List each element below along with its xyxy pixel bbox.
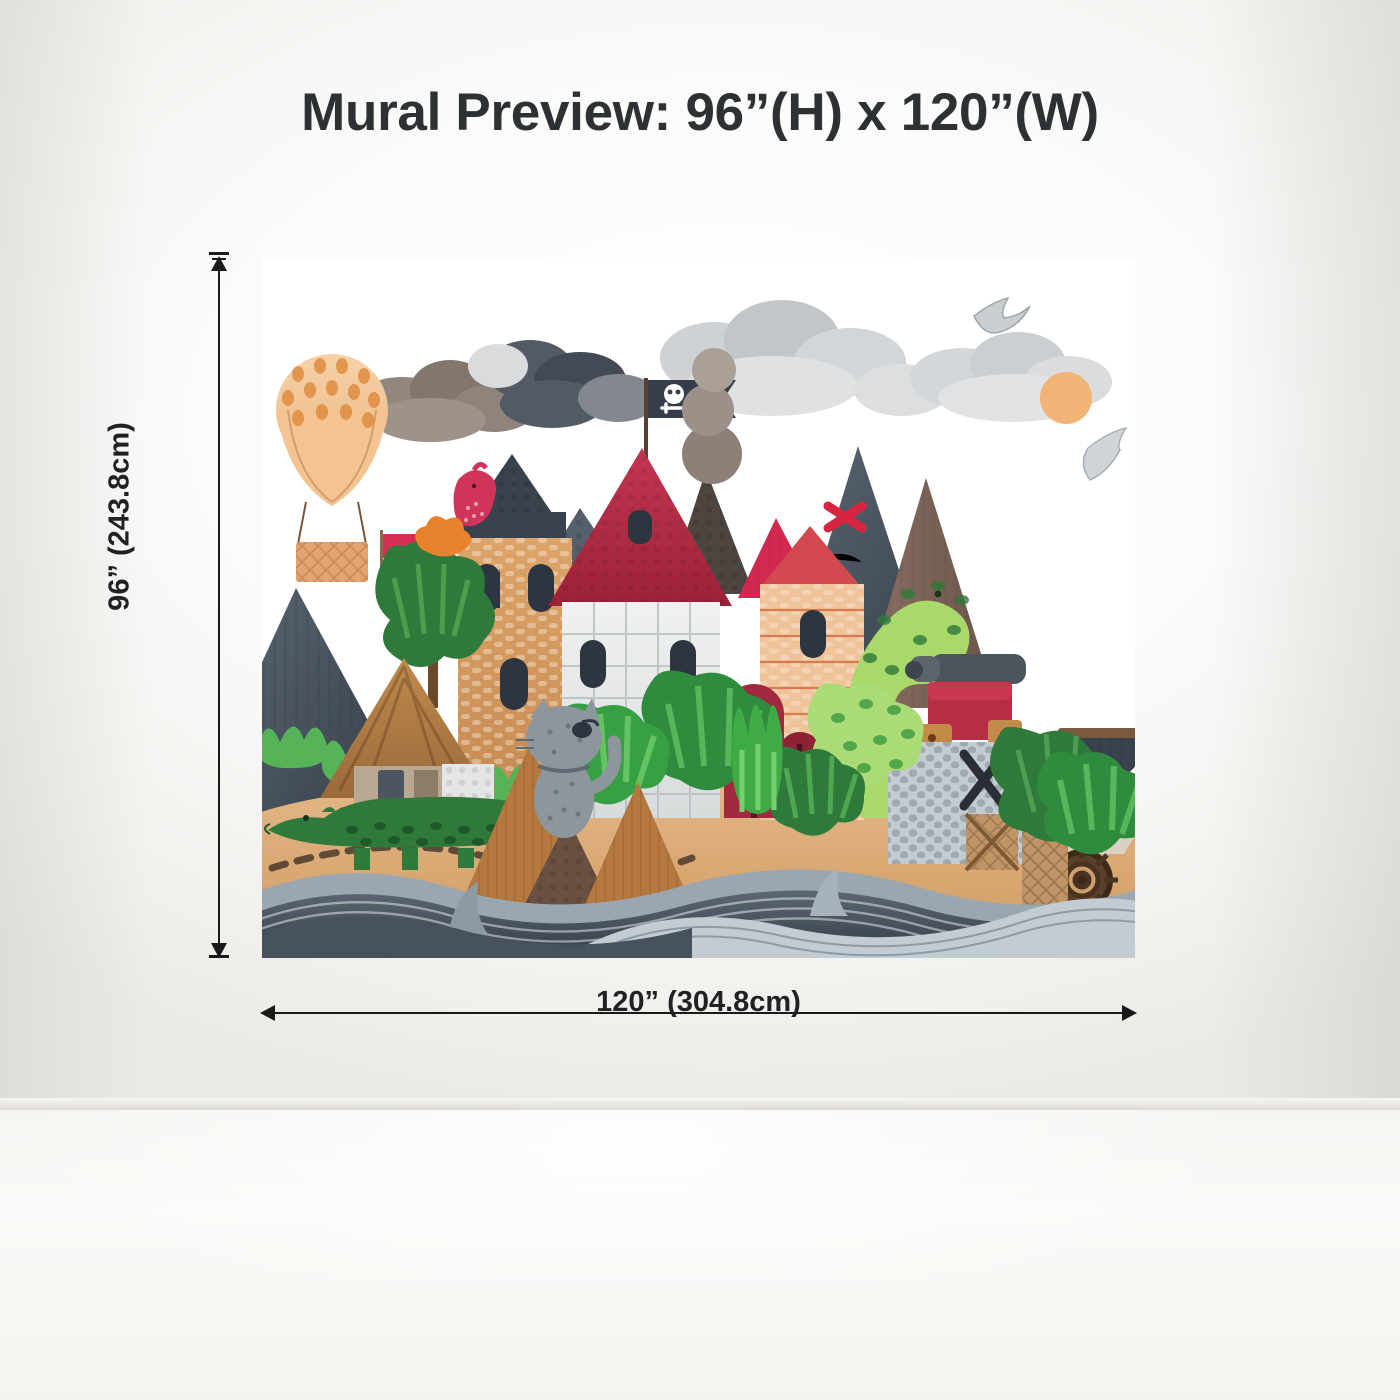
wall-shadow-right [1210, 0, 1400, 1105]
baseboard [0, 1098, 1400, 1110]
page-title: Mural Preview: 96”(H) x 120”(W) [0, 82, 1400, 143]
tall-grass-panel3 [732, 704, 783, 814]
sun [1040, 372, 1092, 424]
cannon [905, 654, 1026, 684]
mural-preview[interactable]: GO [262, 258, 1135, 958]
height-dimension-line [218, 258, 220, 958]
seagull-upper [974, 298, 1030, 333]
cloud-group-dark [354, 340, 658, 442]
width-dimension-label: 120” (304.8cm) [262, 986, 1135, 1019]
height-tick-bottom [209, 955, 229, 958]
mural-illustration: GO [262, 258, 1135, 958]
seagull-lower [1083, 428, 1126, 480]
height-arrow-top [211, 256, 227, 271]
mural-artwork: GO [262, 258, 1135, 958]
height-dimension-label: 96” (243.8cm) [104, 337, 137, 697]
wood-floor [0, 1110, 1400, 1400]
height-tick-top [209, 252, 229, 255]
